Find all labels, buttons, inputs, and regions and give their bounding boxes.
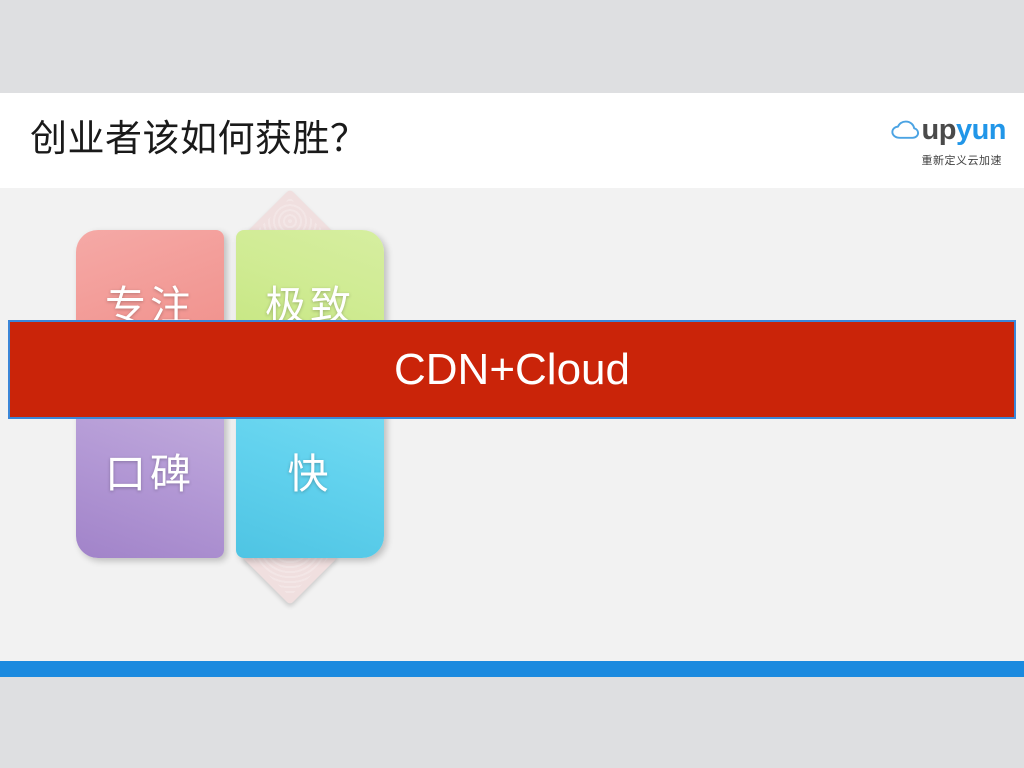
logo-text-yun: yun (956, 115, 1006, 145)
slide-bottom-frame (0, 677, 1024, 768)
slide-top-frame (0, 0, 1024, 93)
slide-body: 专注 极致 口碑 快 (0, 188, 1024, 661)
presentation-slide: 创业者该如何获胜？ up yun 重新定义云加速 专注 极致 (0, 0, 1024, 768)
quadrant-bottom-right: 快 (236, 398, 384, 558)
quadrant-label: 快 (236, 450, 384, 498)
logo-wordmark: up yun (826, 113, 1006, 147)
quadrant-bottom-left: 口碑 (76, 398, 224, 558)
cdn-cloud-banner: CDN+Cloud (8, 320, 1016, 419)
brand-logo: up yun 重新定义云加速 (826, 113, 1006, 171)
slide-header: 创业者该如何获胜？ up yun 重新定义云加速 (0, 93, 1024, 188)
cloud-icon (890, 119, 920, 141)
banner-text: CDN+Cloud (394, 344, 630, 396)
logo-tagline: 重新定义云加速 (826, 152, 1006, 168)
page-title: 创业者该如何获胜？ (30, 115, 368, 163)
footer-accent-rule (0, 661, 1024, 677)
quadrant-label: 口碑 (76, 450, 224, 498)
logo-text-up: up (922, 115, 956, 145)
